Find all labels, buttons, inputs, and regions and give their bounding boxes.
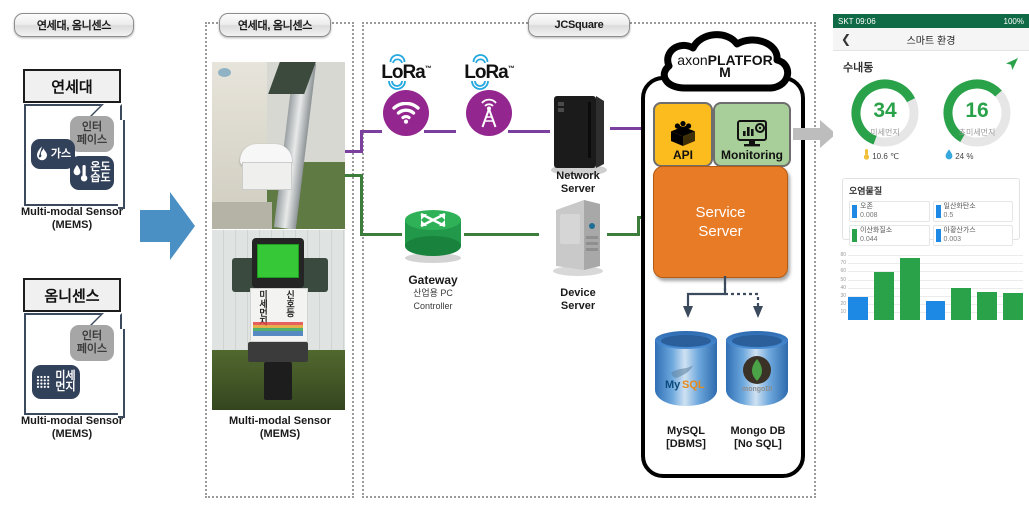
blue-arrow-icon: [140, 188, 196, 264]
network-server-label-l2: Server: [528, 183, 628, 196]
sensor-card-2-caption-l1: Multi-modal Sensor: [8, 415, 136, 428]
chart-gridline: [848, 263, 1023, 264]
platform-cloud-label-m: M: [655, 66, 795, 79]
service-server-label-l1: Service: [695, 203, 745, 222]
link-green-h3: [464, 233, 539, 236]
sensor-card-1-caption-l1: Multi-modal Sensor: [8, 206, 136, 219]
metric-temperature-text: 10.6 ℃: [872, 152, 899, 161]
pollutant-name: 아황산가스: [944, 226, 1013, 235]
photo-panel-caption: Multi-modal Sensor (MEMS): [210, 415, 350, 441]
lora-underwave-icon: [388, 81, 407, 90]
network-server-icon: [548, 90, 610, 176]
chart-bar: [874, 272, 894, 320]
monitoring-module[interactable]: Monitoring: [713, 102, 791, 167]
lora-wordmark-1: LoRa™: [381, 62, 431, 84]
mysql-label: MySQL [DBMS]: [645, 425, 727, 451]
chip-interface-label-2: 페이스: [77, 135, 107, 146]
pollutant-color-bar: [936, 229, 941, 242]
chip-interface-2-label-2: 페이스: [77, 344, 107, 355]
sensor-card-2-caption: Multi-modal Sensor (MEMS): [8, 415, 136, 441]
chip-interface-2: 인터 페이스: [70, 325, 114, 361]
service-server-label-l2: Server: [695, 222, 745, 241]
chart-y-tick: 70: [840, 260, 846, 266]
phone-carrier-time: SKT 09:06: [838, 17, 876, 26]
gauge-fine-dust-label: 미세먼지: [849, 127, 921, 138]
mongodb-label: Mongo DB [No SQL]: [716, 425, 800, 451]
platform-cloud-label-axon: axon: [677, 52, 707, 68]
chip-humidity-label: 습도: [90, 173, 110, 184]
svg-text:mongoDB: mongoDB: [742, 386, 772, 393]
metric-temperature: 10.6 ℃: [863, 149, 899, 161]
lora-antenna-circle: [466, 90, 512, 136]
chip-temp-humidity: 온도 습도: [70, 156, 114, 190]
pollutant-color-bar: [852, 229, 857, 242]
phone-battery: 100%: [1004, 17, 1024, 26]
phone-gauges: 34 미세먼지 16 초미세먼지 10.6 ℃ 24 %: [833, 77, 1029, 165]
chart-gridline: [848, 255, 1023, 256]
chip-fine-dust-label-2: 먼지: [55, 382, 75, 393]
chart-y-tick: 10: [840, 309, 846, 315]
network-server: [548, 90, 610, 181]
device-server-icon: [550, 196, 606, 276]
gateway: [400, 206, 466, 269]
api-module[interactable]: API: [653, 102, 713, 167]
group-tag-jcsquare: JCSquare: [528, 13, 630, 37]
lora-underwave-icon: [471, 81, 490, 90]
mongodb-label-l2: [No SQL]: [716, 438, 800, 451]
phone-app-bar: ❮ 스마트 환경: [833, 28, 1029, 51]
gray-arrow-icon: [793, 118, 837, 150]
pollutant-color-bar: [852, 205, 857, 218]
device-server-label: Device Server: [528, 287, 628, 313]
chip-interface-2-label-1: 인터: [82, 331, 102, 342]
phone-mockup: SKT 09:06 100% ❮ 스마트 환경 수내동 34 미세먼지 16 초: [833, 14, 1029, 354]
gateway-label-l1: Gateway: [383, 274, 483, 287]
pollutant-name: 일산화탄소: [944, 202, 1013, 211]
package-icon: [669, 121, 697, 147]
metric-humidity-text: 24 %: [955, 152, 973, 161]
sensor-card-1: 인터 페이스 가스 온도 습도: [24, 104, 122, 206]
monitoring-icon: [735, 119, 769, 147]
service-to-db-arrows: [678, 276, 773, 324]
pollutant-value: 0.5: [944, 211, 1013, 220]
chart-bar: [926, 301, 946, 320]
group-tag-left: 연세대, 옴니센스: [14, 13, 134, 37]
lora-node-1: LoRa™: [375, 62, 437, 136]
sensor-card-1-caption-l2: (MEMS): [8, 219, 136, 232]
mongodb-cylinder-icon: mongoDB: [726, 331, 788, 413]
link-green-v1: [360, 174, 363, 236]
link-green-v2: [637, 216, 640, 236]
sensor-card-2-title: 옴니센스: [23, 278, 121, 312]
mysql-logo-icon: My SQL: [663, 361, 709, 391]
platform-cloud-label-platfor: PLATFOR: [708, 52, 773, 68]
gauge-ultrafine-dust-value: 16: [941, 99, 1013, 123]
service-server-module[interactable]: Service Server: [653, 166, 788, 278]
pole-sign-text-left: 미세먼지: [253, 290, 267, 326]
mongodb-logo-icon: mongoDB: [742, 355, 772, 393]
device-server-label-l1: Device: [528, 287, 628, 300]
gauge-fine-dust: 34 미세먼지: [849, 77, 921, 149]
chart-bar: [951, 288, 971, 320]
chart-bar: [1003, 293, 1023, 320]
antenna-tower-icon: [477, 97, 501, 129]
gateway-router-icon: [400, 206, 466, 264]
lora-node-2: LoRa™: [458, 62, 520, 136]
gauge-fine-dust-value: 34: [849, 99, 921, 123]
pollutant-item[interactable]: 이산화질소 0.044: [849, 225, 930, 246]
pollutant-name: 오존: [860, 202, 929, 211]
chart-bar: [900, 258, 920, 320]
wifi-icon: [392, 102, 420, 124]
sensor-photo-bottom: 미세먼지 신호등: [212, 230, 345, 410]
lora-text-1: LoRa: [381, 62, 425, 83]
droplet-thermometer-icon: [73, 162, 88, 184]
chip-gas-label: 가스: [51, 149, 71, 160]
chart-y-tick: 20: [840, 301, 846, 307]
api-label: API: [673, 148, 693, 162]
gateway-label-l2: 산업용 PC: [383, 287, 483, 300]
mysql-cylinder-icon: My SQL: [655, 331, 717, 413]
chart-y-axis: 8070605040302010: [834, 252, 847, 320]
lora-wordmark-2: LoRa™: [464, 62, 514, 84]
pollutant-item[interactable]: 오존 0.008: [849, 201, 930, 222]
chart-y-tick: 30: [840, 293, 846, 299]
lora-tm-1: ™: [425, 66, 431, 73]
pollutant-value: 0.008: [860, 211, 929, 220]
phone-district-label: 수내동: [843, 59, 873, 75]
chart-y-tick: 40: [840, 285, 846, 291]
platform-cloud-label: axonPLATFOR M: [655, 54, 795, 79]
lora-wave-icon: [389, 53, 406, 64]
sensor-card-1-title: 연세대: [23, 69, 121, 103]
chip-interface-1: 인터 페이스: [70, 116, 114, 152]
mongodb-label-l1: Mongo DB: [716, 425, 800, 438]
phone-app-title: 스마트 환경: [833, 32, 1029, 47]
lora-tm-2: ™: [508, 66, 514, 73]
monitoring-label: Monitoring: [721, 148, 783, 162]
chart-bar: [977, 292, 997, 320]
sensor-photo-top: [212, 62, 345, 229]
phone-status-bar: SKT 09:06 100%: [833, 14, 1029, 28]
svg-text:SQL: SQL: [682, 379, 705, 391]
gauge-ultrafine-dust-label: 초미세먼지: [941, 127, 1013, 138]
chip-fine-dust: 미세 먼지: [32, 365, 80, 399]
network-server-label: Network Server: [528, 170, 628, 196]
chip-interface-label-1: 인터: [82, 122, 102, 133]
device-server-label-l2: Server: [528, 300, 628, 313]
sensor-card-2: 인터 페이스 미세 먼지: [24, 313, 122, 415]
gateway-label: Gateway 산업용 PC Controller: [383, 274, 483, 313]
air-quality-bar-chart: 8070605040302010: [833, 252, 1029, 332]
chart-y-tick: 80: [840, 252, 846, 258]
gateway-label-l3: Controller: [383, 300, 483, 313]
flame-icon: [35, 146, 49, 163]
sensor-card-2-caption-l2: (MEMS): [8, 428, 136, 441]
pollutant-name: 이산화질소: [860, 226, 929, 235]
lora-wave-icon: [472, 53, 489, 64]
lora-text-2: LoRa: [464, 62, 508, 83]
device-server: [550, 196, 606, 281]
network-server-label-l1: Network: [528, 170, 628, 183]
chart-y-tick: 50: [840, 277, 846, 283]
mysql-label-l1: MySQL: [645, 425, 727, 438]
pollutants-title: 오염물질: [849, 184, 1013, 197]
photo-panel-caption-l2: (MEMS): [210, 428, 350, 441]
chart-bar: [848, 297, 868, 320]
pollutant-color-bar: [936, 205, 941, 218]
pollutant-value: 0.044: [860, 235, 929, 244]
sensor-card-1-caption: Multi-modal Sensor (MEMS): [8, 206, 136, 232]
dust-dots-icon: [36, 374, 53, 391]
navigation-arrow-icon[interactable]: [1005, 57, 1019, 71]
pole-sign-text-right: 신호등: [280, 290, 294, 317]
droplet-icon: [945, 149, 953, 160]
pollutant-value: 0.003: [944, 235, 1013, 244]
link-green-h4: [607, 233, 640, 236]
mysql-label-l2: [DBMS]: [645, 438, 727, 451]
thermometer-icon: [863, 149, 870, 160]
group-tag-photo: 연세대, 옴니센스: [219, 13, 331, 37]
photo-panel-caption-l1: Multi-modal Sensor: [210, 415, 350, 428]
pollutant-item[interactable]: 아황산가스 0.003: [933, 225, 1014, 246]
database-mysql: My SQL: [655, 331, 717, 413]
database-mongodb: mongoDB: [726, 331, 788, 413]
link-green-h2: [360, 233, 402, 236]
pollutants-card: 오염물질 오존 0.008 일산화탄소 0.5 이산화질소 0.044 아황산가…: [842, 178, 1020, 240]
pollutant-item[interactable]: 일산화탄소 0.5: [933, 201, 1014, 222]
lora-wifi-circle: [383, 90, 429, 136]
chart-y-tick: 60: [840, 268, 846, 274]
metric-humidity: 24 %: [945, 149, 973, 161]
chip-gas: 가스: [31, 139, 75, 169]
gauge-ultrafine-dust: 16 초미세먼지: [941, 77, 1013, 149]
chart-plot-area: [848, 252, 1023, 320]
svg-text:My: My: [665, 379, 681, 391]
link-purple-v1: [360, 130, 363, 153]
